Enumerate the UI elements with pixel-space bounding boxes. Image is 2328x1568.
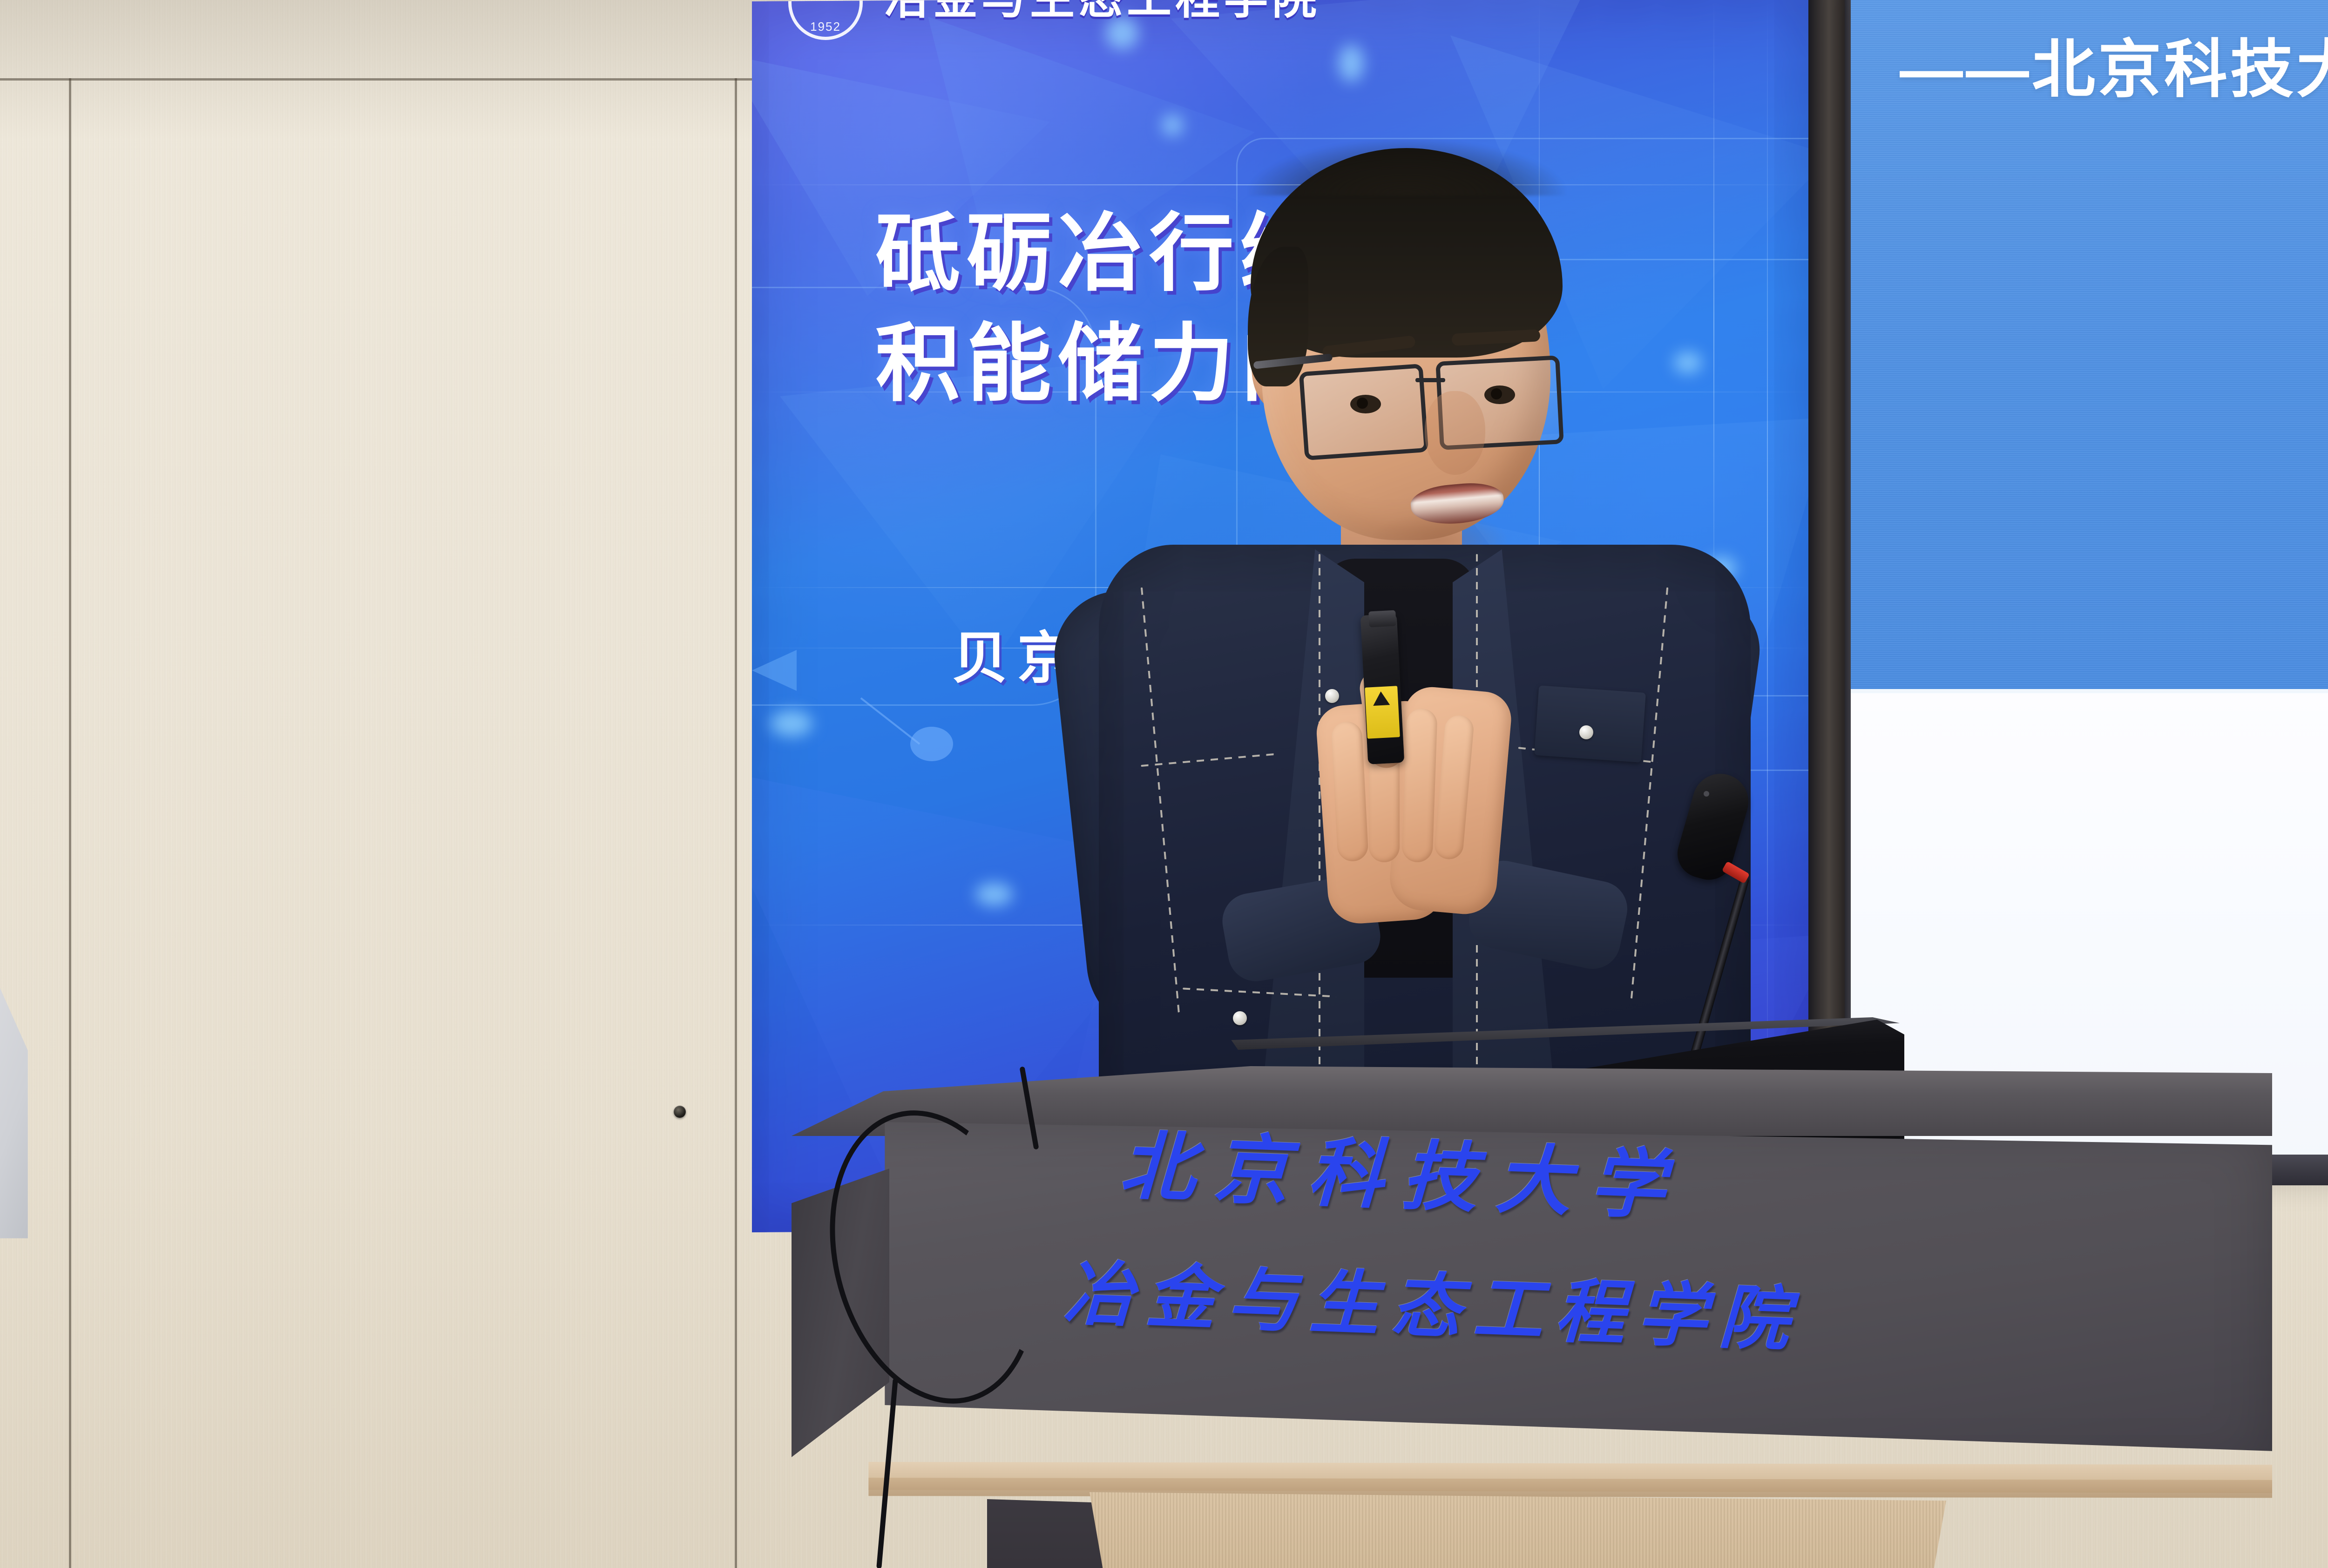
jacket-button bbox=[1233, 1011, 1247, 1025]
lectern-base bbox=[1052, 1492, 1983, 1568]
jacket-chest-pocket bbox=[1534, 685, 1646, 763]
banner-glow bbox=[975, 883, 1013, 906]
presenter bbox=[1043, 140, 1788, 1117]
eye-right bbox=[1484, 385, 1515, 404]
logo-year: 1952 bbox=[810, 20, 841, 37]
glasses-bridge bbox=[1415, 378, 1445, 382]
wall-seam-vertical-mid bbox=[735, 78, 737, 1568]
banner-header-text: 冶金与生态工程学院 bbox=[885, 0, 1320, 27]
banner-glow bbox=[1162, 115, 1183, 136]
slide-heading: ——北京科技大学 bbox=[1900, 18, 2328, 110]
presentation-photo: 1952 冶金与生态工程学院 砥砺冶行绘宏图 积能储力向未来 贝京 ——北京科技… bbox=[0, 0, 2328, 1568]
banner-node-dot bbox=[910, 727, 953, 761]
nose bbox=[1425, 391, 1485, 475]
remote-tip bbox=[1368, 610, 1396, 628]
microphone-vent bbox=[1704, 791, 1709, 797]
remote-warning-label bbox=[1365, 686, 1400, 739]
wall-seam-vertical-left bbox=[69, 78, 71, 1568]
banner-glow bbox=[771, 710, 812, 737]
projection-screen: ——北京科技大学 因 分 bbox=[1851, 0, 2328, 1182]
wall-screw bbox=[674, 1106, 686, 1118]
banner-arrow-icon bbox=[752, 650, 797, 691]
jacket-button bbox=[1325, 689, 1339, 703]
eye-left bbox=[1350, 395, 1381, 413]
finger bbox=[1401, 708, 1437, 863]
wall-seam-horizontal bbox=[0, 78, 757, 81]
wall-top-shading bbox=[0, 0, 792, 140]
university-seal-logo: 1952 bbox=[788, 0, 863, 40]
jacket-stitching bbox=[1319, 554, 1320, 1103]
jacket-button bbox=[1579, 725, 1593, 739]
banner-glow bbox=[1339, 45, 1364, 82]
